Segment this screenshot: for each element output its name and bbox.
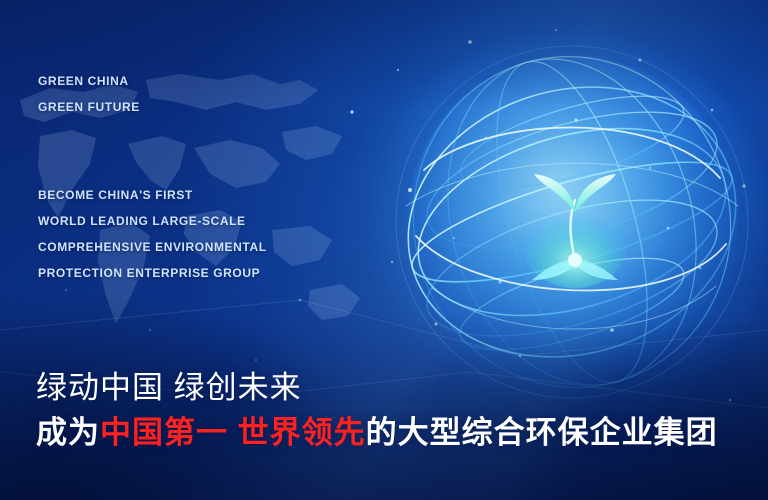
english-line-protection-group: PROTECTION ENTERPRISE GROUP (38, 260, 378, 286)
headline-line-1: 绿动中国 绿创未来 (36, 366, 752, 410)
english-line-world-leading: WORLD LEADING LARGE-SCALE (38, 208, 378, 234)
english-slogan-block: GREEN CHINA GREEN FUTURE BECOME CHINA'S … (38, 68, 378, 286)
english-line-green-future: GREEN FUTURE (38, 94, 378, 120)
sprout-graphic (520, 160, 630, 290)
headline-prefix: 成为 (36, 415, 100, 450)
chinese-headline-block: 绿动中国 绿创未来 成为中国第一 世界领先的大型综合环保企业集团 (36, 366, 752, 456)
english-line-green-china: GREEN CHINA (38, 68, 378, 94)
green-sprout-icon (520, 160, 630, 290)
english-line-comprehensive: COMPREHENSIVE ENVIRONMENTAL (38, 234, 378, 260)
headline-line-2: 成为中国第一 世界领先的大型综合环保企业集团 (36, 410, 752, 456)
headline-suffix: 的大型综合环保企业集团 (366, 415, 718, 450)
english-line-become-first: BECOME CHINA'S FIRST (38, 182, 378, 208)
english-slogan-group-2: BECOME CHINA'S FIRST WORLD LEADING LARGE… (38, 182, 378, 286)
headline-highlight: 中国第一 世界领先 (100, 415, 366, 450)
hero-banner: GREEN CHINA GREEN FUTURE BECOME CHINA'S … (0, 0, 768, 500)
